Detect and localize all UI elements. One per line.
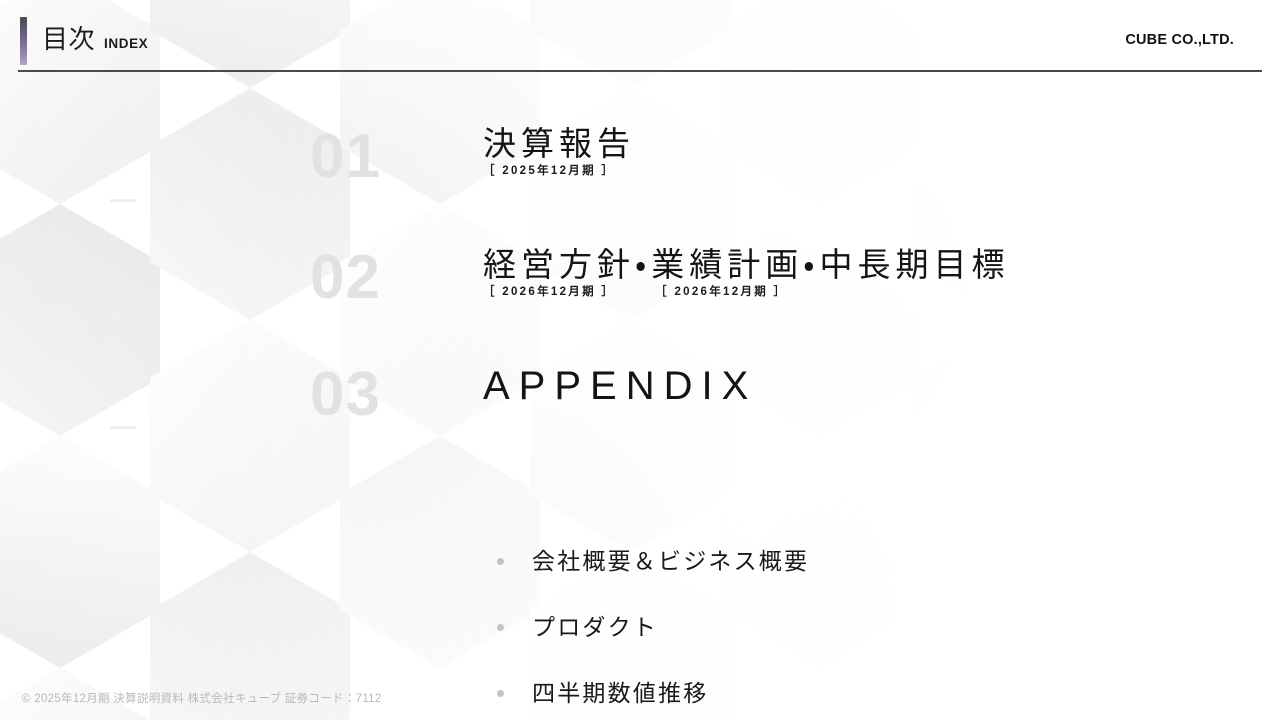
page-title: 目次 INDEX: [42, 26, 148, 52]
index-item-number: 03: [310, 364, 400, 426]
index-item-subtitle: ［ 2026年12月期 ］: [483, 287, 615, 299]
bullet-dot-icon: [497, 624, 504, 631]
index-item-02[interactable]: 02 経営方針・業績計画・中長期目標 ［ 2026年12月期 ］ ［ 2026年…: [0, 247, 1280, 357]
list-item[interactable]: プロダクト: [0, 594, 1280, 660]
slide-footer: © 2025年12月期 決算説明資料 株式会社キューブ 証券コード：7112: [22, 694, 382, 706]
index-item-body: 経営方針・業績計画・中長期目標 ［ 2026年12月期 ］ ［ 2026年12月…: [483, 247, 1009, 298]
index-item-body: 決算報告 ［ 2025年12月期 ］: [483, 126, 635, 177]
list-item[interactable]: 会社概要＆ビジネス概要: [0, 528, 1280, 594]
page-title-en: INDEX: [104, 37, 148, 51]
index-item-01[interactable]: 01 決算報告 ［ 2025年12月期 ］: [0, 126, 1280, 236]
page-title-ja: 目次: [42, 26, 95, 52]
index-item-title: 経営方針・業績計画・中長期目標: [483, 247, 1009, 284]
index-item-number: 01: [310, 126, 400, 188]
slide-header: 目次 INDEX CUBE CO.,LTD.: [0, 0, 1280, 72]
appendix-bullet-list: 会社概要＆ビジネス概要 プロダクト 四半期数値推移: [0, 528, 1280, 720]
slide-index: 目次 INDEX CUBE CO.,LTD. 01 決算報告 ［ 2025年12…: [0, 0, 1280, 720]
list-item-label: 会社概要＆ビジネス概要: [532, 550, 809, 573]
index-item-number: 02: [310, 247, 400, 309]
list-item-label: プロダクト: [532, 616, 658, 639]
index-item-title: APPENDIX: [483, 364, 757, 409]
index-item-body: APPENDIX: [483, 364, 757, 409]
header-accent-bar: [20, 17, 27, 65]
company-logo-text: CUBE CO.,LTD.: [1125, 33, 1234, 48]
index-item-03[interactable]: 03 APPENDIX: [0, 364, 1280, 474]
list-item-label: 四半期数値推移: [532, 682, 708, 705]
header-divider: [18, 70, 1262, 72]
index-item-subtitle: ［ 2025年12月期 ］: [483, 166, 615, 178]
index-item-subtitles: ［ 2025年12月期 ］: [483, 166, 635, 178]
index-item-title: 決算報告: [483, 126, 635, 163]
index-item-subtitles: ［ 2026年12月期 ］ ［ 2026年12月期 ］: [483, 287, 1009, 299]
index-item-subtitle: ［ 2026年12月期 ］: [655, 287, 787, 299]
bullet-dot-icon: [497, 558, 504, 565]
list-item[interactable]: 四半期数値推移: [0, 660, 1280, 720]
bullet-dot-icon: [497, 690, 504, 697]
